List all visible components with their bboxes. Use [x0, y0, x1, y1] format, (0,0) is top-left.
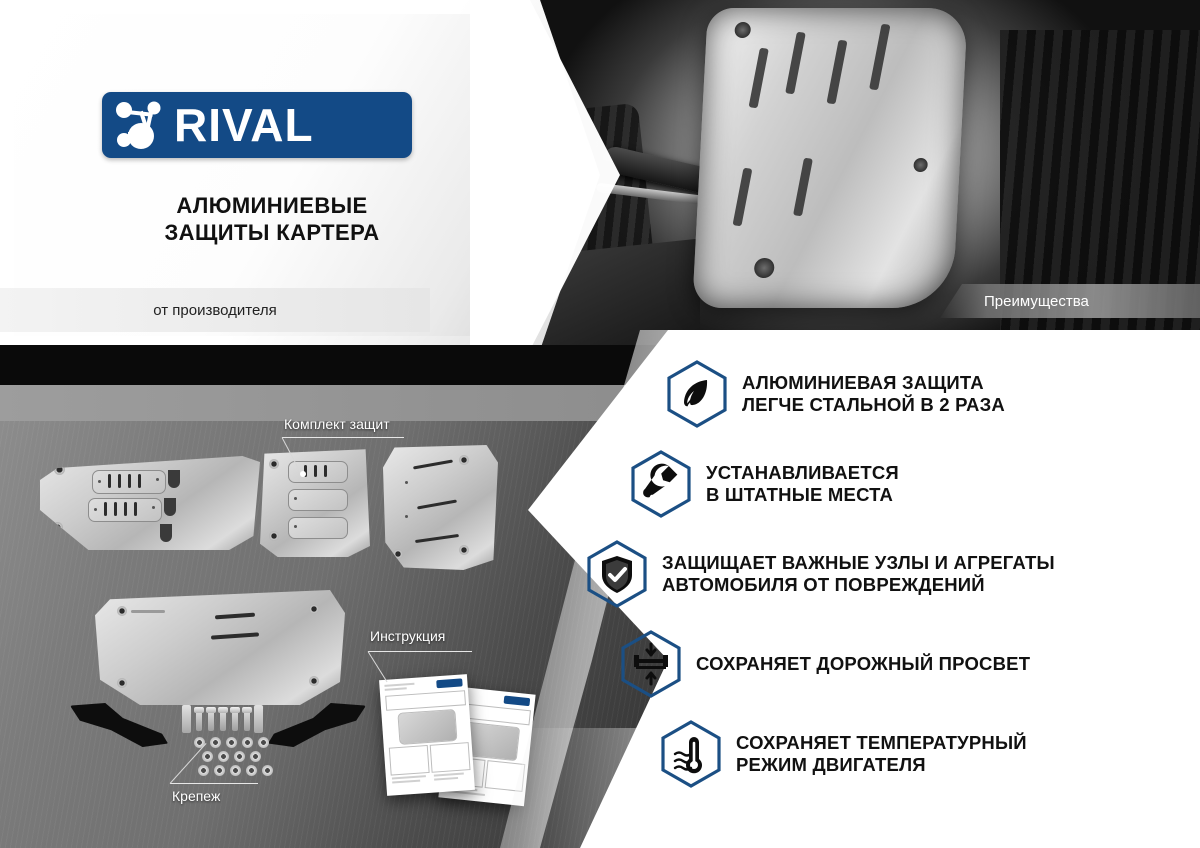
bolt: [196, 707, 202, 731]
page-title: АЛЮМИНИЕВЫЕ ЗАЩИТЫ КАРТЕРА: [102, 193, 442, 247]
feature-line2: В ШТАТНЫЕ МЕСТА: [706, 484, 899, 506]
bolt: [244, 707, 250, 731]
bolt: [232, 707, 238, 731]
hardware-strip-left: [182, 705, 191, 733]
sheet-logo: [504, 696, 531, 707]
caption-instruction: Инструкция: [370, 628, 445, 644]
washer: [198, 765, 209, 776]
advantages-banner: Преимущества: [940, 284, 1200, 318]
washer: [246, 765, 257, 776]
washer: [218, 751, 229, 762]
feature-item-protection: ЗАЩИЩАЕТ ВАЖНЫЕ УЗЛЫ И АГРЕГАТЫ АВТОМОБИ…: [586, 540, 1200, 608]
feature-item-temperature: СОХРАНЯЕТ ТЕМПЕРАТУРНЫЙ РЕЖИМ ДВИГАТЕЛЯ: [660, 720, 1200, 788]
bolt: [208, 707, 214, 731]
bolt: [220, 707, 226, 731]
header-subtitle: от производителя: [153, 302, 276, 319]
feature-item-fitment: УСТАНАВЛИВАЕТСЯ В ШТАТНЫЕ МЕСТА: [630, 450, 1200, 518]
page-title-line2: ЗАЩИТЫ КАРТЕРА: [102, 220, 442, 247]
feature-text: ЗАЩИЩАЕТ ВАЖНЫЕ УЗЛЫ И АГРЕГАТЫ АВТОМОБИ…: [662, 552, 1055, 596]
feature-text: СОХРАНЯЕТ ТЕМПЕРАТУРНЫЙ РЕЖИМ ДВИГАТЕЛЯ: [736, 732, 1027, 776]
feature-text: СОХРАНЯЕТ ДОРОЖНЫЙ ПРОСВЕТ: [696, 653, 1030, 675]
caption-kit-underline: [282, 437, 404, 438]
installed-skid-plate: [692, 8, 968, 308]
feature-line2: РЕЖИМ ДВИГАТЕЛЯ: [736, 754, 1027, 776]
skid-plate-middle: [260, 447, 370, 557]
washer: [242, 737, 253, 748]
leaf-icon: [666, 360, 728, 428]
instruction-sheet-front: [379, 674, 475, 796]
features-list: АЛЮМИНИЕВАЯ ЗАЩИТА ЛЕГЧЕ СТАЛЬНОЙ В 2 РА…: [600, 360, 1200, 810]
washer: [258, 737, 269, 748]
feature-line2: АВТОМОБИЛЯ ОТ ПОВРЕЖДЕНИЙ: [662, 574, 1055, 596]
washer: [250, 751, 261, 762]
thermometer-icon: [660, 720, 722, 788]
caption-hardware-underline: [170, 783, 258, 784]
washer: [234, 751, 245, 762]
sheet-logo: [436, 678, 462, 688]
washer: [214, 765, 225, 776]
promo-banner: RIVAL АЛЮМИНИЕВЫЕ ЗАЩИТЫ КАРТЕРА от прои…: [0, 0, 1200, 848]
wrench-icon: [630, 450, 692, 518]
caption-kit: Комплект защит: [284, 416, 390, 432]
feature-text: УСТАНАВЛИВАЕТСЯ В ШТАТНЫЕ МЕСТА: [706, 462, 899, 506]
washer: [262, 765, 273, 776]
caption-instruction-underline: [368, 651, 472, 652]
page-title-line1: АЛЮМИНИЕВЫЕ: [102, 193, 442, 220]
skid-plate-bottom: [95, 590, 345, 705]
feature-line2: ЛЕГЧЕ СТАЛЬНОЙ В 2 РАЗА: [742, 394, 1005, 416]
ground-clearance-icon: [620, 630, 682, 698]
feature-line1: УСТАНАВЛИВАЕТСЯ: [706, 462, 899, 484]
feature-text: АЛЮМИНИЕВАЯ ЗАЩИТА ЛЕГЧЕ СТАЛЬНОЙ В 2 РА…: [742, 372, 1005, 416]
feature-line1: ЗАЩИЩАЕТ ВАЖНЫЕ УЗЛЫ И АГРЕГАТЫ: [662, 552, 1055, 574]
skid-plate-right: [383, 445, 498, 570]
molecule-icon: [110, 96, 172, 154]
caption-kit-node: [300, 471, 306, 477]
logo-wordmark: RIVAL: [174, 98, 314, 152]
shield-check-icon: [586, 540, 648, 608]
advantages-label: Преимущества: [984, 293, 1089, 310]
washer: [210, 737, 221, 748]
washer: [202, 751, 213, 762]
feature-line1: СОХРАНЯЕТ ДОРОЖНЫЙ ПРОСВЕТ: [696, 653, 1030, 675]
hardware-strip-right: [254, 705, 263, 733]
feature-line1: АЛЮМИНИЕВАЯ ЗАЩИТА: [742, 372, 1005, 394]
feature-item-clearance: СОХРАНЯЕТ ДОРОЖНЫЙ ПРОСВЕТ: [620, 630, 1200, 698]
feature-item-aluminum: АЛЮМИНИЕВАЯ ЗАЩИТА ЛЕГЧЕ СТАЛЬНОЙ В 2 РА…: [666, 360, 1200, 428]
caption-hardware: Крепеж: [172, 788, 220, 804]
washer: [230, 765, 241, 776]
feature-line1: СОХРАНЯЕТ ТЕМПЕРАТУРНЫЙ: [736, 732, 1027, 754]
rival-logo[interactable]: RIVAL: [102, 92, 412, 158]
washer: [226, 737, 237, 748]
header-subtitle-wrap: от производителя: [0, 288, 430, 332]
